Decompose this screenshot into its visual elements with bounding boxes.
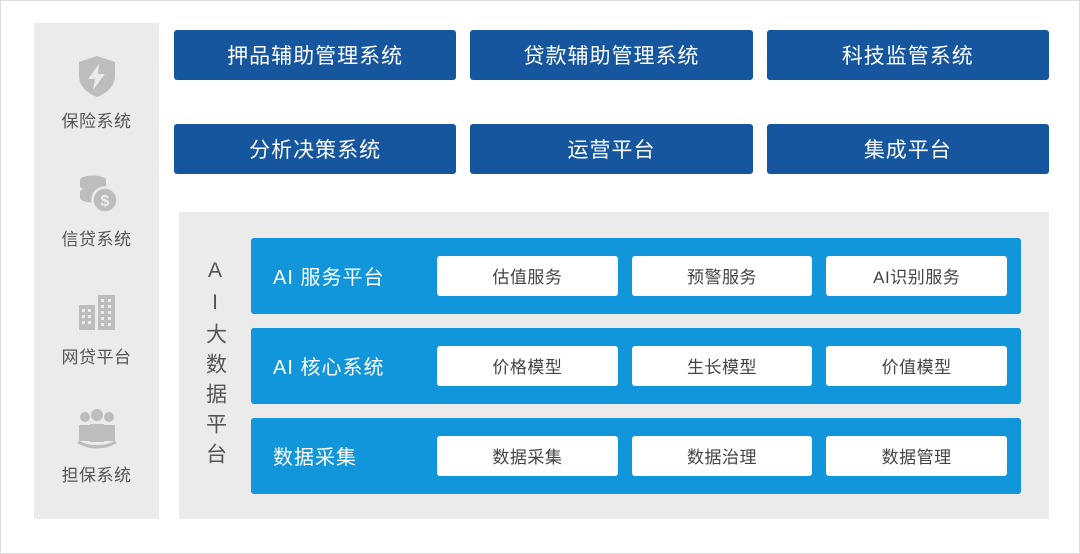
sidebar-systems-panel: 保险系统 $ 信贷系统 [34, 23, 159, 519]
layer-title: AI 核心系统 [273, 351, 423, 380]
chip-value-model[interactable]: 价值模型 [826, 346, 1007, 386]
sidebar-item-guarantee[interactable]: 担保系统 [34, 407, 159, 486]
layer-chip-list: 估值服务 预警服务 AI识别服务 [437, 256, 1007, 296]
coins-dollar-icon: $ [74, 171, 120, 217]
application-row-1: 押品辅助管理系统 贷款辅助管理系统 科技监管系统 [174, 30, 1049, 80]
app-button-operation-platform[interactable]: 运营平台 [470, 124, 752, 174]
shield-bolt-icon [74, 53, 120, 99]
sidebar-item-online-loan[interactable]: 网贷平台 [34, 289, 159, 368]
platform-vertical-title: AI大数据平台 [179, 228, 251, 503]
application-row-2: 分析决策系统 运营平台 集成平台 [174, 124, 1049, 174]
app-button-integration-platform[interactable]: 集成平台 [767, 124, 1049, 174]
platform-vertical-title-text: AI大数据平台 [205, 259, 226, 473]
chip-data-management[interactable]: 数据管理 [826, 436, 1007, 476]
chip-ai-recognition-service[interactable]: AI识别服务 [826, 256, 1007, 296]
layer-title: AI 服务平台 [273, 261, 423, 290]
chip-price-model[interactable]: 价格模型 [437, 346, 618, 386]
buildings-icon [74, 289, 120, 335]
sidebar-item-label: 信贷系统 [62, 225, 132, 250]
svg-text:$: $ [100, 193, 109, 210]
app-button-analysis-decision[interactable]: 分析决策系统 [174, 124, 456, 174]
app-button-tech-supervision[interactable]: 科技监管系统 [767, 30, 1049, 80]
platform-layer-ai-service: AI 服务平台 估值服务 预警服务 AI识别服务 [251, 238, 1021, 314]
chip-alert-service[interactable]: 预警服务 [632, 256, 813, 296]
layer-chip-list: 价格模型 生长模型 价值模型 [437, 346, 1007, 386]
chip-data-collection[interactable]: 数据采集 [437, 436, 618, 476]
sidebar-item-insurance[interactable]: 保险系统 [34, 53, 159, 132]
sidebar-item-label: 网贷平台 [62, 343, 132, 368]
people-group-icon [74, 407, 120, 453]
platform-layer-ai-core: AI 核心系统 价格模型 生长模型 价值模型 [251, 328, 1021, 404]
layer-title: 数据采集 [273, 441, 423, 470]
chip-data-governance[interactable]: 数据治理 [632, 436, 813, 476]
ai-bigdata-platform-panel: AI大数据平台 AI 服务平台 估值服务 预警服务 AI识别服务 AI 核心系统… [179, 212, 1049, 519]
layer-chip-list: 数据采集 数据治理 数据管理 [437, 436, 1007, 476]
app-button-loan-management[interactable]: 贷款辅助管理系统 [470, 30, 752, 80]
sidebar-item-label: 保险系统 [62, 107, 132, 132]
platform-layer-list: AI 服务平台 估值服务 预警服务 AI识别服务 AI 核心系统 价格模型 生长… [251, 228, 1021, 503]
diagram-canvas: 保险系统 $ 信贷系统 [0, 0, 1080, 554]
sidebar-item-credit[interactable]: $ 信贷系统 [34, 171, 159, 250]
app-button-collateral-management[interactable]: 押品辅助管理系统 [174, 30, 456, 80]
chip-valuation-service[interactable]: 估值服务 [437, 256, 618, 296]
sidebar-item-label: 担保系统 [62, 461, 132, 486]
chip-growth-model[interactable]: 生长模型 [632, 346, 813, 386]
platform-layer-data-collection: 数据采集 数据采集 数据治理 数据管理 [251, 418, 1021, 494]
